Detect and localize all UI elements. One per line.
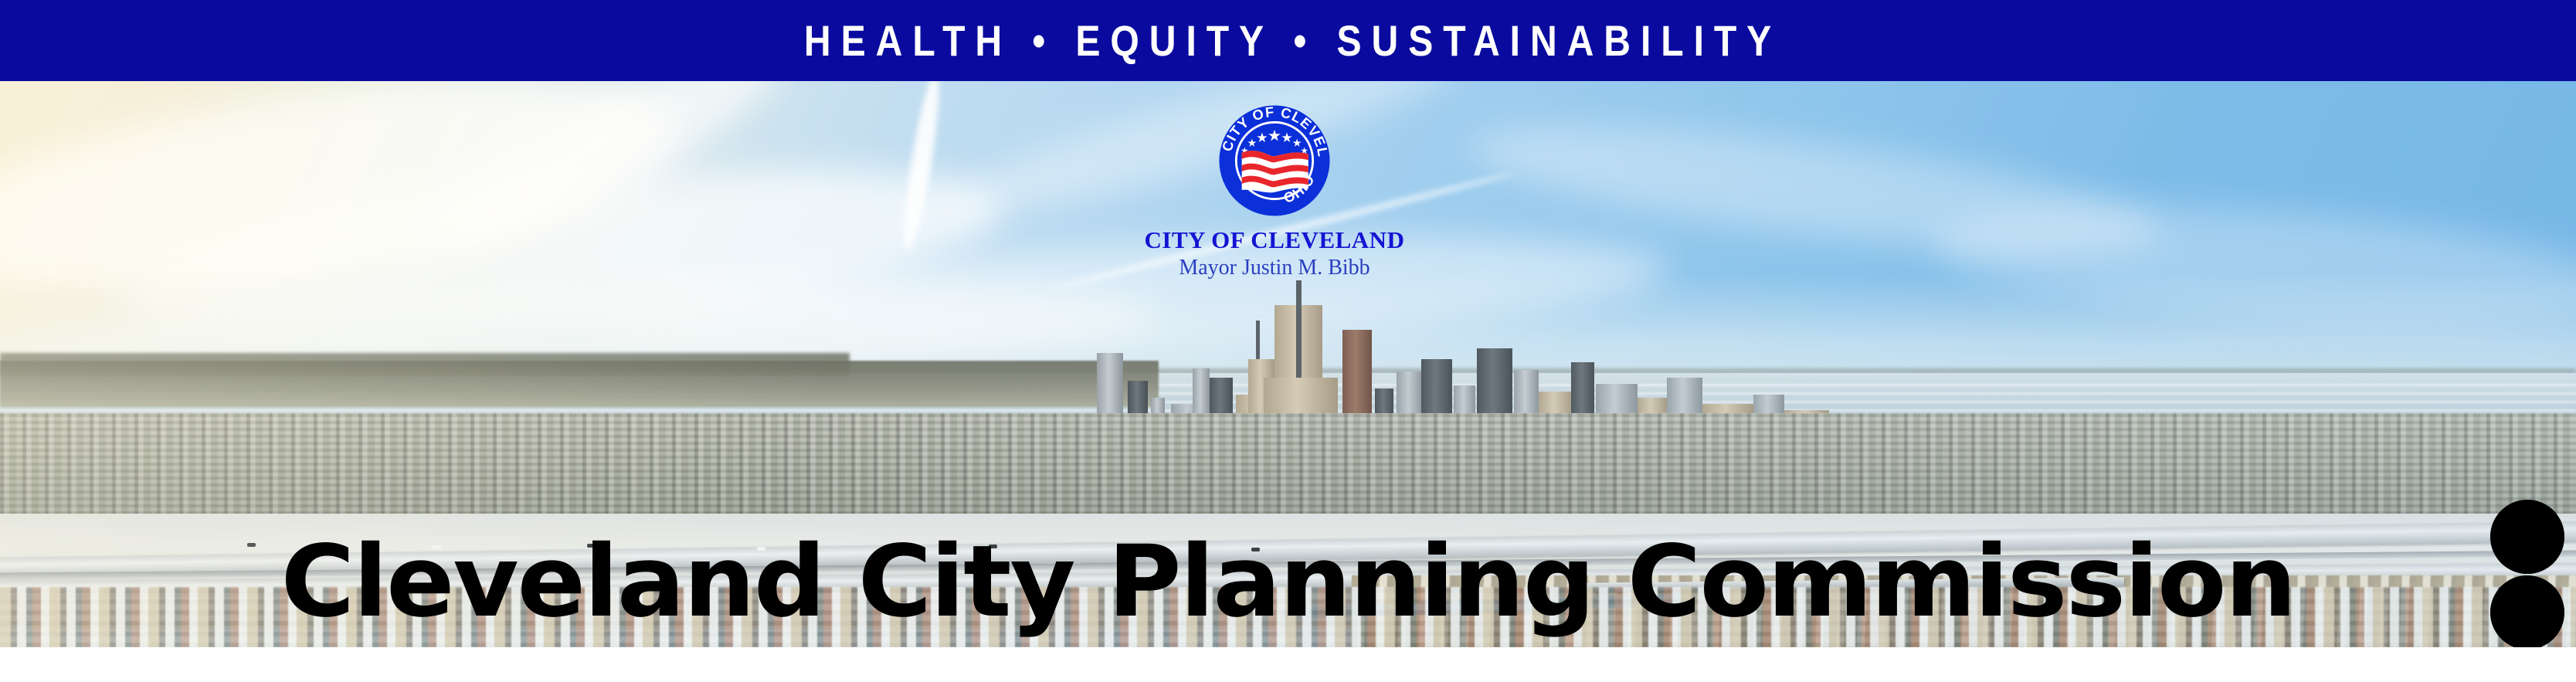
city-name-text: CITY OF CLEVELAND (1112, 228, 1437, 253)
city-of-cleveland-seal-icon: CITY OF CLEVELAND OHIO (1218, 104, 1331, 217)
hero-photo: CITY OF CLEVELAND OHIO (0, 81, 2576, 647)
far-ridge (0, 361, 1159, 407)
midground-city-texture (0, 413, 2576, 521)
tagline-banner: HEALTH • EQUITY • SUSTAINABILITY (0, 0, 2576, 81)
youtube-icon (2490, 500, 2564, 574)
bottom-white-strip (0, 647, 2576, 682)
tagline-text: HEALTH • EQUITY • SUSTAINABILITY (794, 19, 1781, 63)
social-links (2490, 500, 2564, 647)
page-root: HEALTH • EQUITY • SUSTAINABILITY (0, 0, 2576, 682)
mayor-name-text: Mayor Justin M. Bibb (1112, 256, 1437, 280)
instagram-link[interactable] (2490, 575, 2564, 647)
page-title: Cleveland City Planning Commission (0, 533, 2576, 632)
city-logo-lockup: CITY OF CLEVELAND OHIO (1112, 104, 1437, 321)
instagram-icon (2490, 575, 2564, 647)
youtube-link[interactable] (2490, 500, 2564, 574)
